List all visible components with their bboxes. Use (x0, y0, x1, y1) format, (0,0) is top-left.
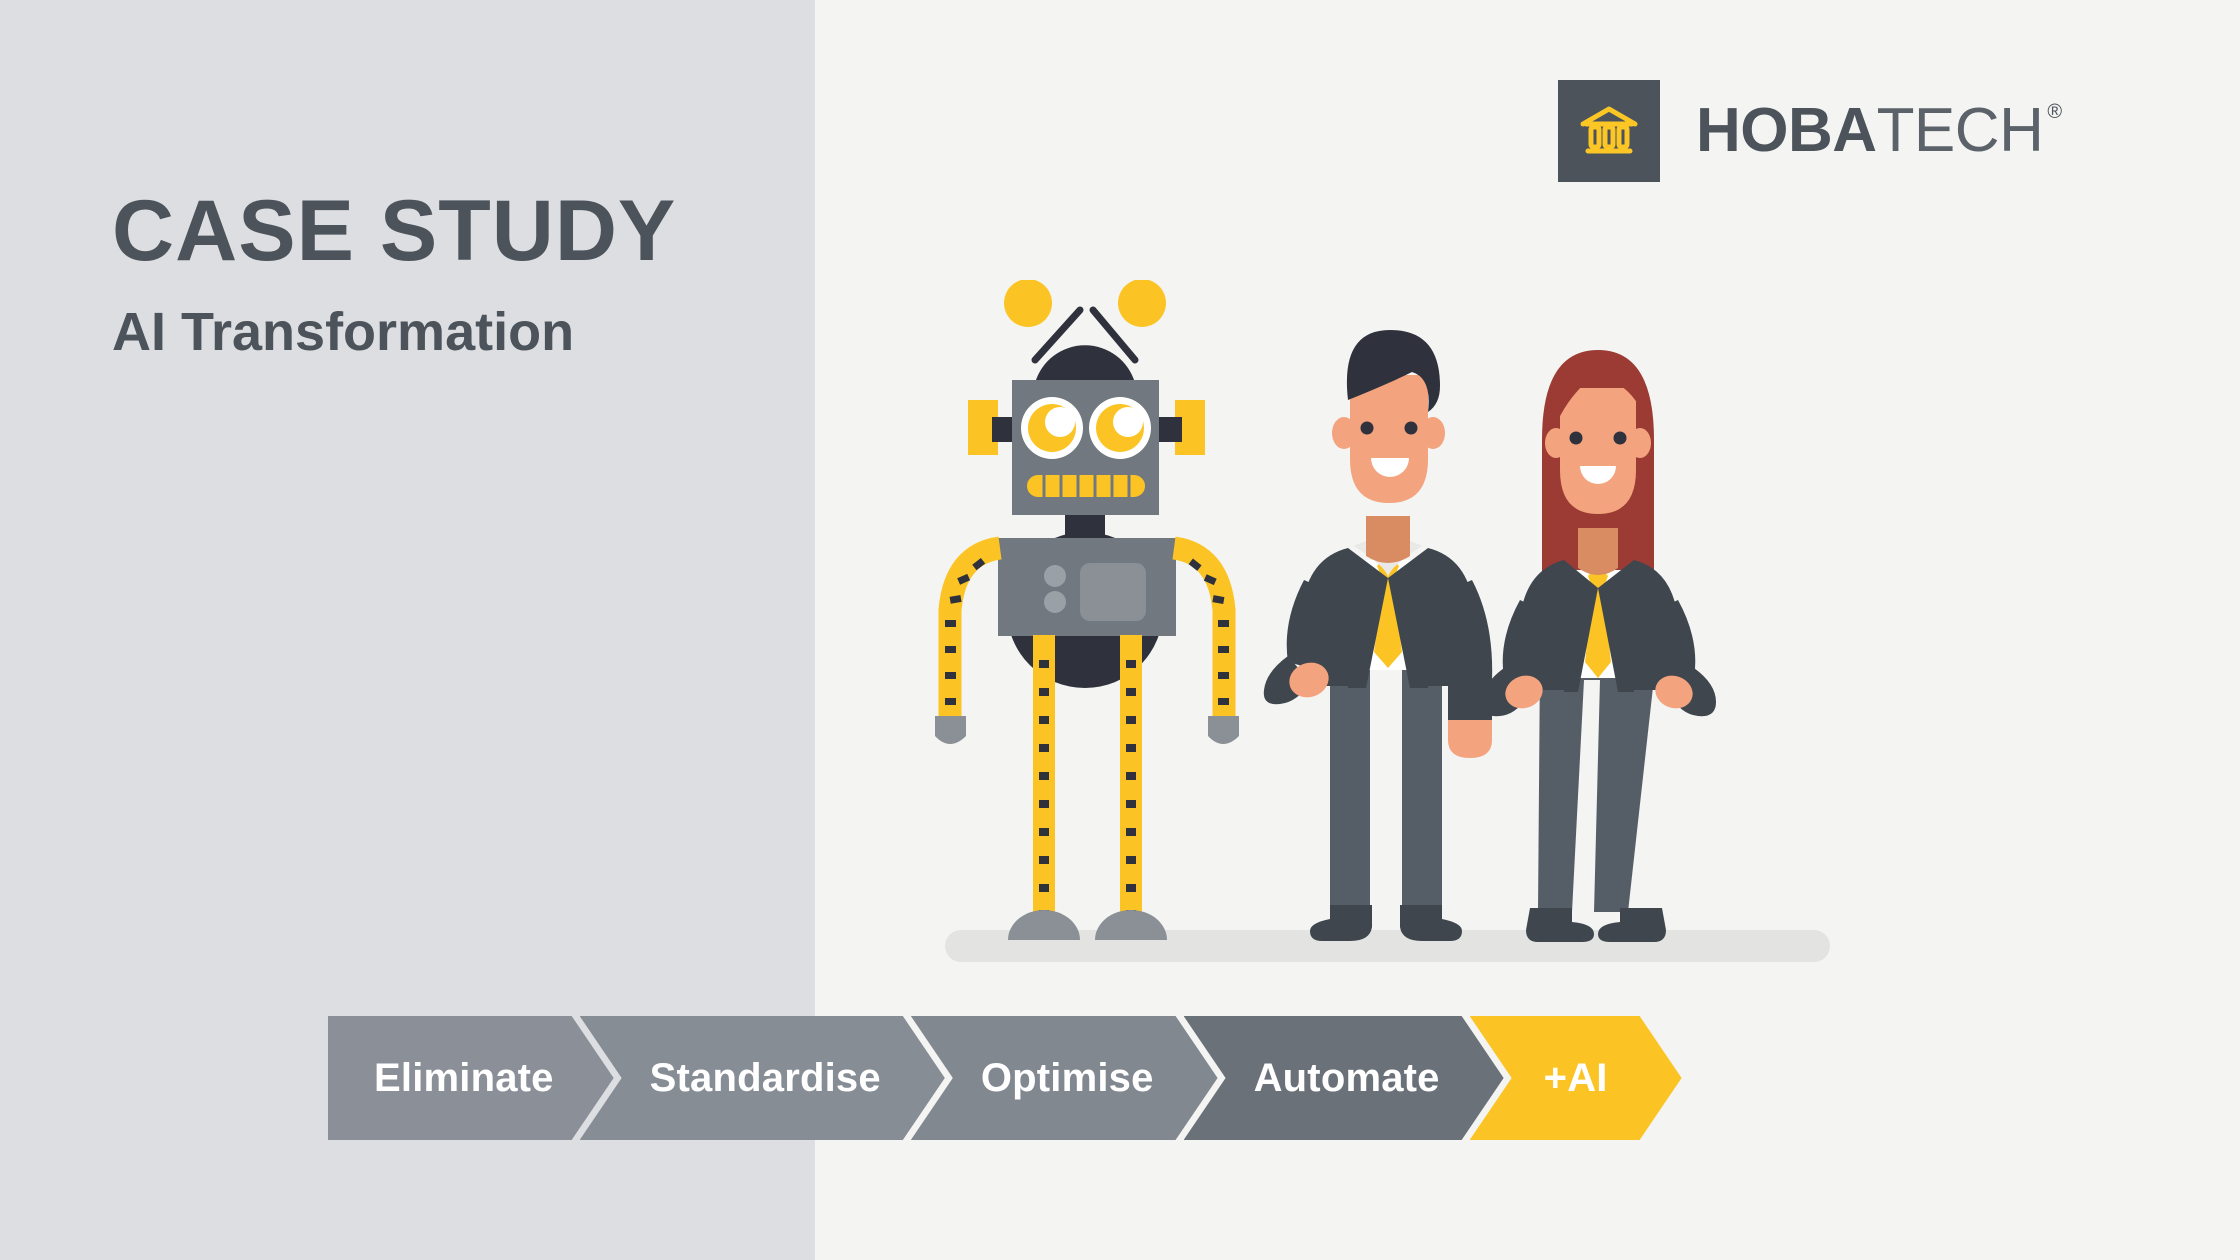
businesswoman-character (1482, 350, 1716, 942)
robot-character (935, 280, 1239, 940)
process-step-automate[interactable]: Automate (1184, 1016, 1504, 1140)
robot-foot-right (1095, 910, 1167, 940)
man-eye-left (1361, 422, 1374, 435)
woman-shoe-left (1526, 908, 1594, 942)
page-title: CASE STUDY (112, 188, 792, 276)
characters-illustration (930, 280, 1850, 980)
headline-block: CASE STUDY AI Transformation (112, 188, 792, 360)
logo-name-bold: HOBA (1696, 100, 1877, 162)
robot-chest-panel (1080, 563, 1146, 621)
woman-neck (1578, 528, 1618, 575)
registered-mark-icon: ® (2047, 102, 2061, 122)
robot-foot-left (1008, 910, 1080, 940)
robot-indicator-upper (1044, 565, 1066, 587)
robot-pupil-right (1113, 407, 1143, 437)
case-study-slide: CASE STUDY AI Transformation HOBA TECH ® (0, 0, 2240, 1260)
man-trousers (1330, 650, 1442, 910)
bank-building-icon (1574, 96, 1644, 166)
man-eye-right (1405, 422, 1418, 435)
logo-wordmark: HOBA TECH ® (1696, 100, 2062, 162)
page-subtitle: AI Transformation (112, 304, 792, 361)
man-shoe-left (1310, 905, 1372, 941)
hobatech-logo[interactable]: HOBA TECH ® (1558, 80, 2062, 182)
woman-shoe-right (1598, 908, 1666, 942)
process-step-label: Automate (1254, 1056, 1440, 1101)
robot-arm-left (950, 548, 1000, 722)
robot-head-dome (1035, 345, 1135, 383)
robot-antenna-left-ball (1004, 280, 1052, 327)
robot-antenna-right-ball (1118, 280, 1166, 327)
robot-arm-right (1174, 548, 1224, 722)
robot-hand-left (935, 716, 966, 744)
man-arm-right (1440, 580, 1492, 680)
robot-indicator-lower (1044, 591, 1066, 613)
woman-eye-right (1614, 432, 1627, 445)
process-step-standardise[interactable]: Standardise (580, 1016, 945, 1140)
woman-eye-left (1570, 432, 1583, 445)
process-step-label: +AI (1544, 1056, 1608, 1101)
process-step-label: Standardise (650, 1056, 881, 1101)
transformation-process-bar: Eliminate Standardise Optimise Automate … (328, 1016, 1682, 1140)
process-step-label: Optimise (981, 1056, 1154, 1101)
process-step-label: Eliminate (374, 1056, 554, 1101)
hero-illustration (930, 280, 1850, 980)
process-step-eliminate[interactable]: Eliminate (328, 1016, 614, 1140)
man-hand-right (1448, 720, 1492, 758)
businessman-character (1264, 330, 1492, 941)
woman-face (1560, 388, 1636, 514)
woman-trousers (1538, 660, 1656, 912)
robot-hand-right (1208, 716, 1239, 744)
logo-name-light: TECH (1877, 100, 2044, 162)
man-neck (1366, 516, 1410, 563)
robot-pupil-left (1045, 407, 1075, 437)
process-step-optimise[interactable]: Optimise (911, 1016, 1218, 1140)
logo-mark (1558, 80, 1660, 182)
man-shoe-right (1400, 905, 1462, 941)
